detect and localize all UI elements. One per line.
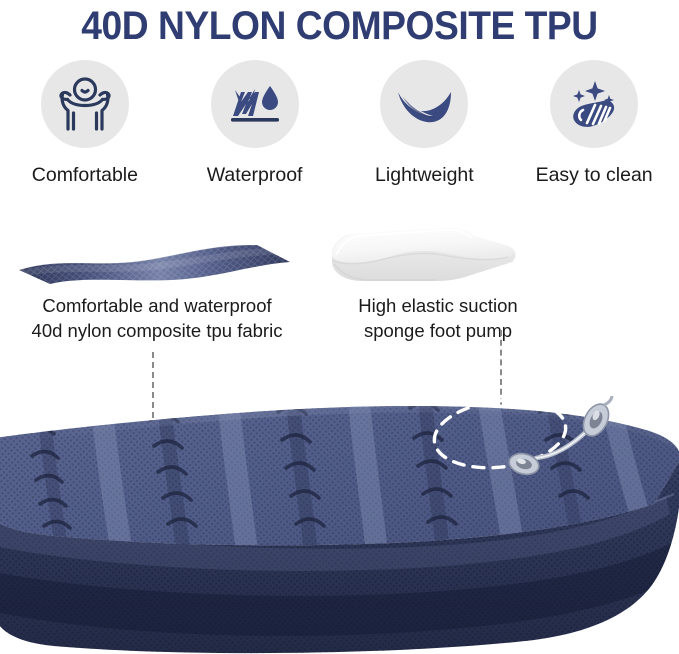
navy-fabric-swatch xyxy=(12,232,302,294)
feature-icon-badge xyxy=(211,60,299,148)
feature-label: Comfortable xyxy=(32,164,138,187)
page-title: 40D NYLON COMPOSITE TPU xyxy=(24,0,655,52)
white-foam-sponge-block xyxy=(318,224,558,294)
feature-icon-badge xyxy=(550,60,638,148)
person-relaxing-icon xyxy=(54,76,116,132)
navy-inflatable-air-mattress xyxy=(0,396,679,654)
feature-label: Waterproof xyxy=(207,164,303,187)
feature-label: Lightweight xyxy=(375,164,474,187)
water-droplet-repel-icon xyxy=(225,76,285,132)
callout-foot-pump: High elastic suction sponge foot pump xyxy=(318,224,558,343)
callout-caption-line2: sponge foot pump xyxy=(318,319,558,344)
feature-label: Easy to clean xyxy=(536,164,653,187)
feature-icon-badge xyxy=(380,60,468,148)
feature-icon-badge xyxy=(41,60,129,148)
hand-wiping-sparkle-icon xyxy=(563,75,625,133)
feature-item-easy-to-clean: Easy to clean xyxy=(519,60,669,187)
feature-item-waterproof: Waterproof xyxy=(180,60,330,187)
feather-icon xyxy=(393,78,455,130)
callout-caption-line2: 40d nylon composite tpu fabric xyxy=(12,319,302,344)
feature-item-comfortable: Comfortable xyxy=(10,60,160,187)
callout-caption-line1: High elastic suction xyxy=(318,294,558,319)
infographic-canvas: 40D NYLON COMPOSITE TPU xyxy=(0,0,679,654)
feature-item-lightweight: Lightweight xyxy=(349,60,499,187)
callout-fabric: Comfortable and waterproof 40d nylon com… xyxy=(12,232,302,343)
callout-caption-line1: Comfortable and waterproof xyxy=(12,294,302,319)
feature-list: Comfortable Waterproof xyxy=(0,60,679,200)
